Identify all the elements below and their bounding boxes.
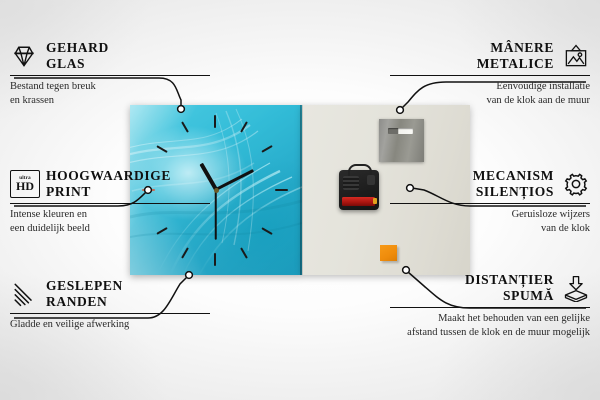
- diamond-icon: [10, 42, 38, 70]
- hour-marker: [156, 145, 167, 153]
- callout-subtitle: Eenvoudige installatievan de klok aan de…: [390, 80, 590, 107]
- hour-marker: [214, 115, 216, 128]
- callout-subtitle: Bestand tegen breuken krassen: [10, 80, 210, 107]
- callout-header: MECANISMSILENȚIOS: [390, 168, 590, 199]
- callout-divider: [390, 75, 590, 76]
- callout-header: GESLEPENRANDEN: [10, 278, 210, 309]
- picture-frame-hook-icon: [562, 42, 590, 70]
- clock-minute-hand: [215, 170, 254, 192]
- callout-divider: [390, 203, 590, 204]
- callout-subtitle: Geruisloze wijzersvan de klok: [390, 208, 590, 235]
- clock-second-hand: [215, 190, 217, 240]
- hour-marker: [181, 247, 189, 258]
- hour-marker: [214, 253, 216, 266]
- callout-subtitle: Intense kleuren eneen duidelijk beeld: [10, 208, 210, 235]
- callout-hoogwaardige-print: ultra HD HOOGWAARDIGEPRINT Intense kleur…: [10, 168, 210, 236]
- hanger-keyhole-slot: [388, 128, 413, 134]
- hour-marker: [261, 145, 272, 153]
- metal-hanger-plate: [379, 119, 424, 162]
- callout-header: DISTANȚIERSPUMĂ: [390, 272, 590, 303]
- battery: [342, 197, 375, 206]
- mechanism-grill: [343, 176, 359, 190]
- infographic-stage: GEHARDGLAS Bestand tegen breuken krassen…: [0, 0, 600, 400]
- mechanism-adjust-knob: [367, 175, 375, 185]
- callout-title: DISTANȚIERSPUMĂ: [465, 272, 554, 303]
- callout-subtitle: Maakt het behouden van een gelijkeafstan…: [390, 312, 590, 339]
- callout-subtitle: Gladde en veilige afwerking: [10, 318, 210, 332]
- callout-title: MECANISMSILENȚIOS: [473, 168, 554, 199]
- callout-title: GEHARDGLAS: [46, 40, 109, 71]
- callout-divider: [10, 75, 210, 76]
- ultra-hd-icon-main-text: HD: [16, 180, 34, 192]
- hour-marker: [240, 247, 248, 258]
- callout-gehard-glas: GEHARDGLAS Bestand tegen breuken krassen: [10, 40, 210, 108]
- gear-icon: [562, 170, 590, 198]
- ultra-hd-icon: ultra HD: [10, 170, 38, 198]
- hour-marker: [261, 227, 272, 235]
- clock-mechanism-box: [339, 170, 379, 210]
- bevel-lines-icon: [10, 280, 38, 308]
- arrow-down-pad-icon: [562, 274, 590, 302]
- callout-header: MÂNEREMETALICE: [390, 40, 590, 71]
- battery-terminal: [373, 198, 377, 204]
- callout-divider: [10, 313, 210, 314]
- callout-mecanism-silentios: MECANISMSILENȚIOS Geruisloze wijzersvan …: [390, 168, 590, 236]
- callout-title: MÂNEREMETALICE: [477, 40, 554, 71]
- hour-marker: [275, 189, 288, 191]
- hour-marker: [181, 121, 189, 132]
- clock-center-cap: [214, 188, 219, 193]
- callout-geslepen-randen: GESLEPENRANDEN Gladde en veilige afwerki…: [10, 278, 210, 332]
- callout-header: GEHARDGLAS: [10, 40, 210, 71]
- foam-spacer: [380, 245, 397, 261]
- callout-divider: [10, 203, 210, 204]
- callout-distantier-spuma: DISTANȚIERSPUMĂ Maakt het behouden van e…: [390, 272, 590, 340]
- hour-marker: [240, 121, 248, 132]
- callout-divider: [390, 307, 590, 308]
- callout-title: HOOGWAARDIGEPRINT: [46, 168, 171, 199]
- callout-manere-metalice: MÂNEREMETALICE Eenvoudige installatievan…: [390, 40, 590, 108]
- callout-title: GESLEPENRANDEN: [46, 278, 123, 309]
- panel-seam: [300, 105, 303, 275]
- callout-header: ultra HD HOOGWAARDIGEPRINT: [10, 168, 210, 199]
